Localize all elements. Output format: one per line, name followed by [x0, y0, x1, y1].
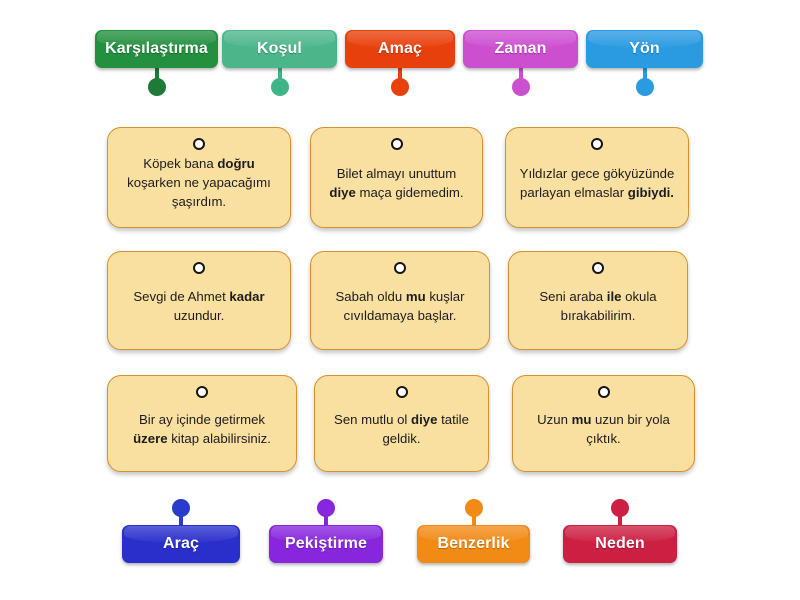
card-connector-dot-icon[interactable] — [391, 138, 403, 150]
sentence-card[interactable]: Yıldızlar gece gökyüzünde parlayan elmas… — [505, 127, 689, 228]
category-button-label: Koşul — [253, 41, 306, 57]
sentence-card[interactable]: Uzun mu uzun bir yola çıktık. — [512, 375, 695, 472]
category-button-label: Benzerlik — [433, 536, 513, 552]
sentence-card-text: Bir ay içinde getirmek üzere kitap alabi… — [120, 411, 284, 448]
category-button[interactable]: Zaman — [463, 30, 578, 68]
sentence-card-text: Sevgi de Ahmet kadar uzundur. — [120, 288, 278, 325]
sentence-card[interactable]: Sen mutlu ol diye tatile geldik. — [314, 375, 489, 472]
card-connector-dot-icon[interactable] — [193, 138, 205, 150]
card-connector-dot-icon[interactable] — [592, 262, 604, 274]
category-button-label: Araç — [159, 536, 203, 552]
sentence-card-text: Sabah oldu mu kuşlar cıvıldamaya başlar. — [323, 288, 477, 325]
category-pin-benzerlik[interactable]: Benzerlik — [417, 499, 530, 569]
category-button[interactable]: Yön — [586, 30, 703, 68]
sentence-card-text: Yıldızlar gece gökyüzünde parlayan elmas… — [518, 165, 676, 202]
sentence-card[interactable]: Seni araba ile okula bırakabilirim. — [508, 251, 688, 350]
pin-stalk-icon — [643, 66, 647, 82]
category-pin-ama-[interactable]: Amaç — [345, 30, 455, 100]
category-button[interactable]: Pekiştirme — [269, 525, 383, 563]
card-connector-dot-icon[interactable] — [193, 262, 205, 274]
sentence-card-text: Köpek bana doğru koşarken ne yapacağımı … — [120, 155, 278, 211]
sentence-card[interactable]: Köpek bana doğru koşarken ne yapacağımı … — [107, 127, 291, 228]
pin-stalk-icon — [155, 66, 159, 82]
pin-stalk-icon — [519, 66, 523, 82]
category-button[interactable]: Neden — [563, 525, 677, 563]
category-pin-y-n[interactable]: Yön — [586, 30, 703, 100]
activity-canvas: KarşılaştırmaKoşulAmaçZamanYön Köpek ban… — [0, 0, 800, 600]
category-button[interactable]: Koşul — [222, 30, 337, 68]
pin-stalk-icon — [398, 66, 402, 82]
category-pin-zaman[interactable]: Zaman — [463, 30, 578, 100]
category-pin-ara-[interactable]: Araç — [122, 499, 240, 569]
category-button-label: Neden — [591, 536, 648, 552]
card-connector-dot-icon[interactable] — [196, 386, 208, 398]
sentence-card[interactable]: Bir ay içinde getirmek üzere kitap alabi… — [107, 375, 297, 472]
category-button-label: Karşılaştırma — [101, 41, 212, 57]
card-connector-dot-icon[interactable] — [396, 386, 408, 398]
card-connector-dot-icon[interactable] — [591, 138, 603, 150]
category-pin-neden[interactable]: Neden — [563, 499, 677, 569]
sentence-card-text: Seni araba ile okula bırakabilirim. — [521, 288, 675, 325]
category-pin-peki-tirme[interactable]: Pekiştirme — [269, 499, 383, 569]
pin-stalk-icon — [278, 66, 282, 82]
sentence-card[interactable]: Bilet almayı unuttum diye maça gidemedim… — [310, 127, 483, 228]
category-button[interactable]: Benzerlik — [417, 525, 530, 563]
category-button[interactable]: Karşılaştırma — [95, 30, 218, 68]
category-pin-ko-ul[interactable]: Koşul — [222, 30, 337, 100]
sentence-card-text: Bilet almayı unuttum diye maça gidemedim… — [323, 165, 470, 202]
sentence-card[interactable]: Sabah oldu mu kuşlar cıvıldamaya başlar. — [310, 251, 490, 350]
category-button[interactable]: Araç — [122, 525, 240, 563]
category-button-label: Pekiştirme — [281, 536, 371, 552]
card-connector-dot-icon[interactable] — [598, 386, 610, 398]
category-button-label: Zaman — [490, 41, 550, 57]
category-pin-kar-la-t-rma[interactable]: Karşılaştırma — [95, 30, 218, 100]
category-button-label: Yön — [625, 41, 664, 57]
card-connector-dot-icon[interactable] — [394, 262, 406, 274]
sentence-card[interactable]: Sevgi de Ahmet kadar uzundur. — [107, 251, 291, 350]
sentence-card-text: Sen mutlu ol diye tatile geldik. — [327, 411, 476, 448]
category-button[interactable]: Amaç — [345, 30, 455, 68]
category-button-label: Amaç — [374, 41, 426, 57]
sentence-card-text: Uzun mu uzun bir yola çıktık. — [525, 411, 682, 448]
